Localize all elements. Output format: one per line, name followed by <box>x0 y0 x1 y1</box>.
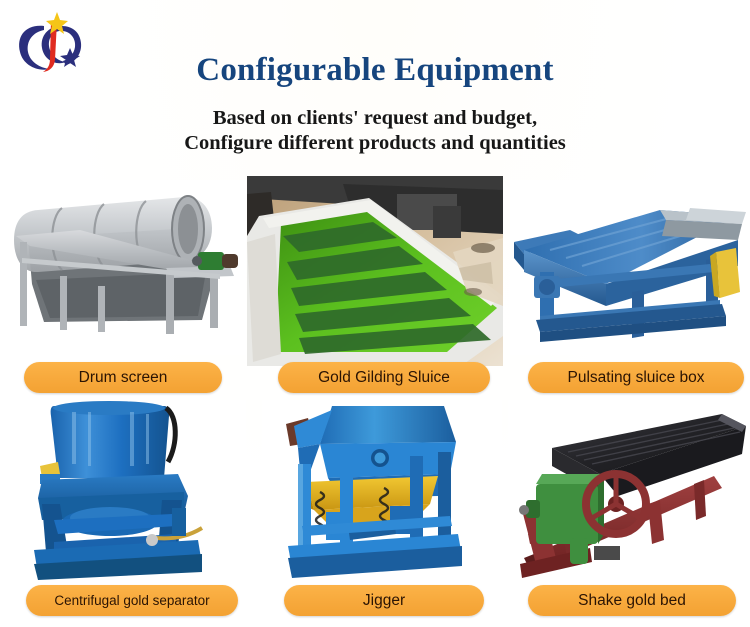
jigger-image <box>262 400 502 580</box>
product-label-centrifugal-gold-separator[interactable]: Centrifugal gold separator <box>26 585 238 616</box>
product-card-centrifugal-gold-separator[interactable]: Centrifugal gold separator <box>6 400 246 585</box>
product-label-shake-gold-bed[interactable]: Shake gold bed <box>528 585 736 616</box>
product-label-pulsating-sluice-box[interactable]: Pulsating sluice box <box>528 362 744 393</box>
product-card-jigger[interactable]: Jigger <box>262 400 502 585</box>
subtitle-line-2: Configure different products and quantit… <box>0 131 750 156</box>
product-card-drum-screen[interactable]: Drum screen <box>6 180 246 360</box>
page-title: Configurable Equipment <box>0 52 750 89</box>
subtitle-line-1: Based on clients' request and budget, <box>0 106 750 131</box>
product-grid: Drum screen <box>0 176 750 627</box>
gold-gilding-sluice-image <box>247 176 503 366</box>
product-label-gold-gilding-sluice[interactable]: Gold Gilding Sluice <box>278 362 490 393</box>
product-label-drum-screen[interactable]: Drum screen <box>24 362 222 393</box>
product-card-shake-gold-bed[interactable]: Shake gold bed <box>508 400 750 585</box>
drum-screen-image <box>6 180 246 355</box>
page-subtitle: Based on clients' request and budget, Co… <box>0 106 750 156</box>
product-card-gold-gilding-sluice[interactable]: Gold Gilding Sluice <box>247 176 503 366</box>
centrifugal-gold-separator-image <box>6 400 246 580</box>
shake-gold-bed-image <box>508 400 750 580</box>
pulsating-sluice-box-image <box>510 180 750 355</box>
product-label-jigger[interactable]: Jigger <box>284 585 484 616</box>
promo-banner: Configurable Equipment Based on clients'… <box>0 0 750 627</box>
product-card-pulsating-sluice-box[interactable]: Pulsating sluice box <box>510 180 750 360</box>
